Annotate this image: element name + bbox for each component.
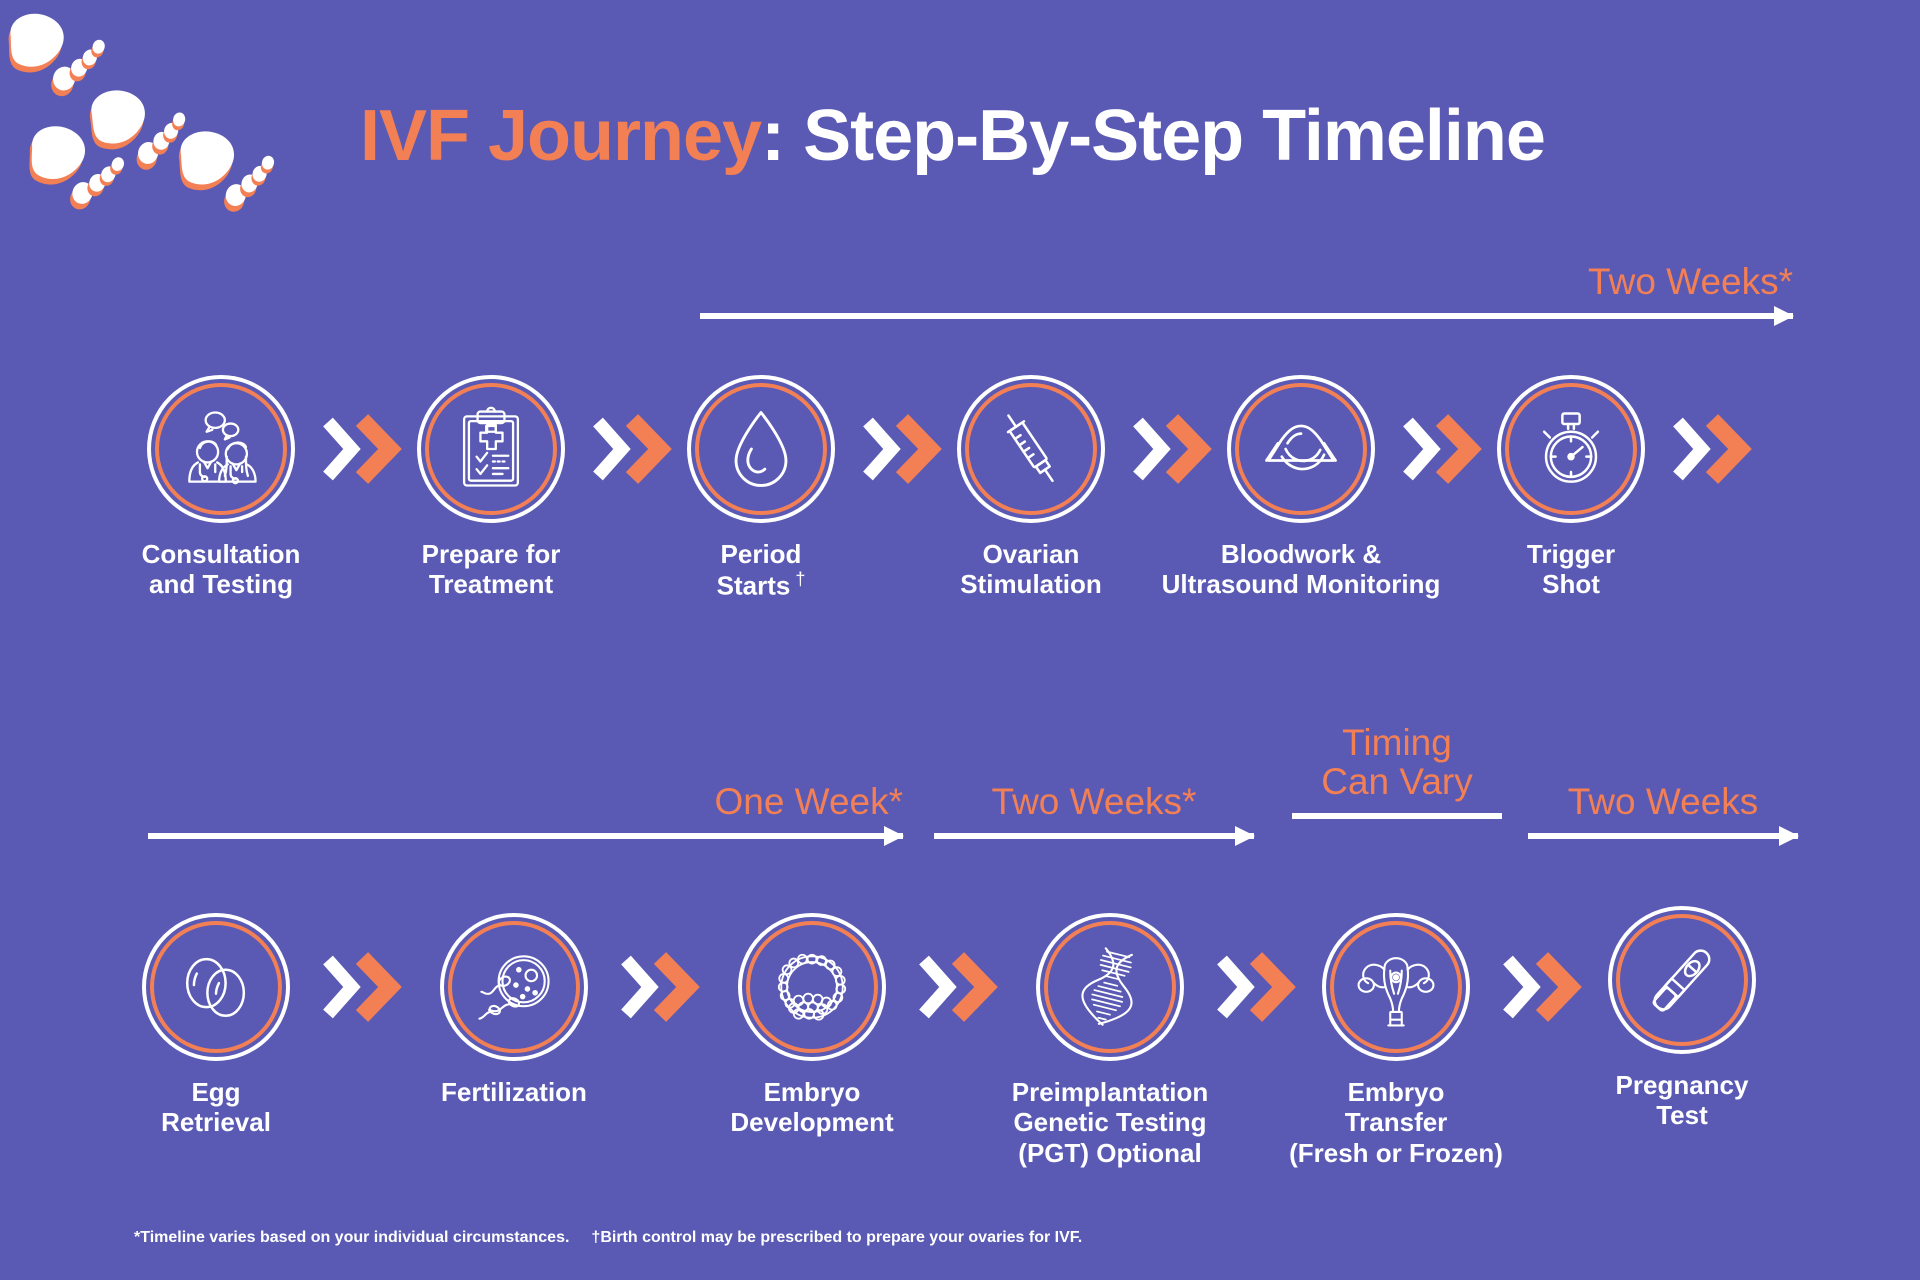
step-label: Prepare for Treatment — [422, 539, 561, 600]
duration-label: Two Weeks* — [934, 782, 1254, 821]
step-prepare-for-treatment[interactable]: Prepare for Treatment — [417, 375, 565, 523]
ultrasound-icon — [1227, 375, 1375, 523]
chevron-connector-2 — [592, 412, 676, 486]
step-egg-retrieval[interactable]: Egg Retrieval — [142, 913, 290, 1061]
step-label: Fertilization — [441, 1077, 587, 1107]
step-label: Consultation and Testing — [142, 539, 301, 600]
duration-label-line-1: Timing — [1342, 722, 1452, 763]
baby-footprints-icon — [0, 0, 330, 230]
label-line-2: Treatment — [429, 569, 553, 599]
label-line-2: Genetic Testing — [1013, 1107, 1206, 1137]
label-line-1: Trigger — [1527, 539, 1615, 569]
syringe-icon — [957, 375, 1105, 523]
step-label: Trigger Shot — [1527, 539, 1615, 600]
page-title-rest: : Step-By-Step Timeline — [761, 96, 1545, 176]
page-title: IVF Journey: Step-By-Step Timeline — [360, 95, 1545, 177]
step-bloodwork-ultrasound-monitoring[interactable]: Bloodwork & Ultrasound Monitoring — [1227, 375, 1375, 523]
duration-two-weeks-row2: Two Weeks* — [934, 782, 1254, 844]
step-icon-ring — [1497, 375, 1645, 523]
step-trigger-shot[interactable]: Trigger Shot — [1497, 375, 1645, 523]
chevron-connector-6 — [1672, 412, 1756, 486]
label-line-3: (Fresh or Frozen) — [1289, 1138, 1503, 1168]
step-embryo-development[interactable]: Embryo Development — [738, 913, 886, 1061]
chevron-connector-9 — [918, 950, 1002, 1024]
duration-label-line-2: Can Vary — [1321, 761, 1473, 802]
blastocyst-icon — [738, 913, 886, 1061]
label-line-1: Preimplantation — [1012, 1077, 1208, 1107]
duration-arrow — [1528, 828, 1798, 844]
page-title-accent: IVF Journey — [360, 96, 761, 176]
label-line-2: Ultrasound Monitoring — [1162, 569, 1441, 599]
chevron-connector-10 — [1216, 950, 1300, 1024]
duration-two-weeks-row1: Two Weeks* — [700, 262, 1793, 324]
duration-arrow — [700, 308, 1793, 324]
step-icon-ring — [687, 375, 835, 523]
label-line-1: Period — [721, 539, 802, 569]
chevron-connector-7 — [322, 950, 406, 1024]
duration-label: One Week* — [148, 782, 903, 821]
step-icon-ring — [738, 913, 886, 1061]
chevron-connector-5 — [1402, 412, 1486, 486]
dagger-marker: † — [790, 569, 805, 589]
step-label: Preimplantation Genetic Testing (PGT) Op… — [1012, 1077, 1208, 1168]
step-embryo-transfer[interactable]: Embryo Transfer (Fresh or Frozen) — [1322, 913, 1470, 1061]
label-line-2: and Testing — [149, 569, 293, 599]
step-icon-ring — [147, 375, 295, 523]
pregnancy-test-icon — [1608, 906, 1756, 1054]
label-line-2: Transfer — [1345, 1107, 1448, 1137]
step-icon-ring — [1036, 913, 1184, 1061]
footnote-part-1: *Timeline varies based on your individua… — [134, 1229, 569, 1246]
step-label: Embryo Development — [730, 1077, 893, 1138]
step-icon-ring — [1322, 913, 1470, 1061]
label-line-1: Egg — [191, 1077, 240, 1107]
step-period-starts[interactable]: Period Starts † — [687, 375, 835, 523]
step-pregnancy-test[interactable]: Pregnancy Test — [1608, 906, 1756, 1054]
label-line-2: Stimulation — [960, 569, 1102, 599]
label-line-1: Consultation — [142, 539, 301, 569]
blood-droplet-icon — [687, 375, 835, 523]
duration-arrow — [148, 828, 903, 844]
fertilization-icon — [440, 913, 588, 1061]
chevron-connector-4 — [1132, 412, 1216, 486]
duration-label: Timing Can Vary — [1292, 723, 1502, 801]
chevron-connector-8 — [620, 950, 704, 1024]
clipboard-medical-icon — [417, 375, 565, 523]
step-label: Bloodwork & Ultrasound Monitoring — [1162, 539, 1441, 600]
chevron-connector-1 — [322, 412, 406, 486]
step-icon-ring — [440, 913, 588, 1061]
uterus-icon — [1322, 913, 1470, 1061]
label-line-2: Development — [730, 1107, 893, 1137]
label-line-3: (PGT) Optional — [1018, 1138, 1201, 1168]
step-icon-ring — [1227, 375, 1375, 523]
step-icon-ring — [1608, 906, 1756, 1054]
chevron-connector-11 — [1502, 950, 1586, 1024]
duration-one-week: One Week* — [148, 782, 903, 844]
stopwatch-icon — [1497, 375, 1645, 523]
label-line-1: Ovarian — [983, 539, 1080, 569]
step-label: Egg Retrieval — [161, 1077, 271, 1138]
footnote-part-2: †Birth control may be prescribed to prep… — [591, 1229, 1082, 1246]
label-line-2: Test — [1656, 1100, 1708, 1130]
label-line-1: Fertilization — [441, 1077, 587, 1107]
step-ovarian-stimulation[interactable]: Ovarian Stimulation — [957, 375, 1105, 523]
duration-label: Two Weeks* — [700, 262, 1793, 301]
label-line-2: Shot — [1542, 569, 1600, 599]
label-line-1: Embryo — [1348, 1077, 1445, 1107]
chevron-connector-3 — [862, 412, 946, 486]
step-icon-ring — [417, 375, 565, 523]
label-line-1: Pregnancy — [1616, 1070, 1749, 1100]
duration-two-weeks-row2b: Two Weeks — [1528, 782, 1798, 844]
label-line-1: Prepare for — [422, 539, 561, 569]
label-line-1: Bloodwork & — [1221, 539, 1381, 569]
step-icon-ring — [957, 375, 1105, 523]
step-label: Embryo Transfer (Fresh or Frozen) — [1289, 1077, 1503, 1168]
consultation-couple-icon — [147, 375, 295, 523]
duration-timing-can-vary: Timing Can Vary — [1292, 723, 1502, 824]
step-preimplantation-genetic-testing[interactable]: Preimplantation Genetic Testing (PGT) Op… — [1036, 913, 1184, 1061]
step-fertilization[interactable]: Fertilization — [440, 913, 588, 1061]
dna-helix-icon — [1036, 913, 1184, 1061]
step-label: Period Starts † — [717, 539, 806, 601]
step-consultation-and-testing[interactable]: Consultation and Testing — [147, 375, 295, 523]
step-label: Ovarian Stimulation — [960, 539, 1102, 600]
duration-label: Two Weeks — [1528, 782, 1798, 821]
label-line-2: Retrieval — [161, 1107, 271, 1137]
step-label: Pregnancy Test — [1616, 1070, 1749, 1131]
label-line-1: Embryo — [764, 1077, 861, 1107]
label-line-2: Starts — [717, 571, 791, 601]
infographic-canvas: IVF Journey: Step-By-Step Timeline Two W… — [0, 0, 1920, 1280]
footnote: *Timeline varies based on your individua… — [134, 1229, 1082, 1247]
step-icon-ring — [142, 913, 290, 1061]
duration-arrow — [934, 828, 1254, 844]
eggs-icon — [142, 913, 290, 1061]
duration-arrow-no-head — [1292, 808, 1502, 824]
